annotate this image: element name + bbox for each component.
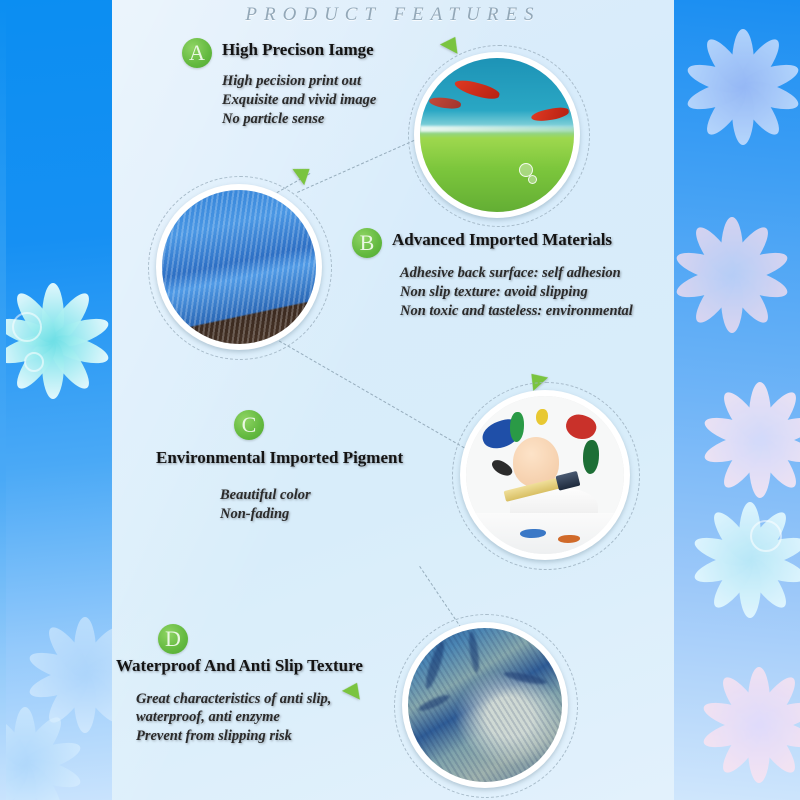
center-panel: PRODUCT FEATURES A High Precison Iamge H… [112, 0, 674, 800]
feature-image-b [156, 184, 322, 350]
feature-line-a-3: No particle sense [222, 110, 324, 129]
feature-line-b-2: Non slip texture: avoid slipping [400, 283, 588, 302]
feature-image-d [402, 622, 568, 788]
product-features-poster: PRODUCT FEATURES A High Precison Iamge H… [0, 0, 800, 800]
feature-line-d-2: waterproof, anti enzyme [136, 708, 280, 727]
right-decorative-band [674, 0, 800, 800]
pink-petal-flower-icon [674, 12, 800, 162]
feature-badge-c: C [234, 410, 264, 440]
swirl-decor-icon [24, 352, 44, 372]
pale-petal-flower-icon [0, 700, 90, 800]
feature-line-d-3: Prevent from slipping risk [136, 727, 292, 746]
feature-line-d-1: Great characteristics of anti slip, [136, 690, 331, 709]
blue-ribbed-fabric-photo [162, 190, 316, 344]
feature-badge-a: A [182, 38, 212, 68]
left-decorative-band [0, 0, 112, 800]
feature-heading-c: Environmental Imported Pigment [156, 448, 403, 468]
swirl-decor-icon [750, 520, 782, 552]
feature-heading-a: High Precison Iamge [222, 40, 374, 60]
pink-petal-flower-icon [674, 215, 792, 335]
feature-badge-b: B [352, 228, 382, 258]
green-triangle-arrow-icon [440, 32, 464, 54]
teal-petal-flower-icon [690, 500, 800, 620]
feature-line-c-1: Beautiful color [220, 486, 311, 505]
pink-petal-flower-icon [684, 650, 800, 800]
baby-with-paintbrush-photo [466, 396, 624, 554]
pink-petal-flower-icon [690, 370, 800, 510]
feature-line-a-2: Exquisite and vivid image [222, 91, 376, 110]
feature-badge-d: D [158, 624, 188, 654]
feature-image-a [414, 52, 580, 218]
feature-line-b-1: Adhesive back surface: self adhesion [400, 264, 621, 283]
feature-line-c-2: Non-fading [220, 505, 289, 524]
green-triangle-arrow-icon [342, 678, 366, 699]
feature-line-b-3: Non toxic and tasteless: environmental [400, 302, 633, 321]
swirl-decor-icon [12, 312, 42, 342]
feature-image-c [460, 390, 630, 560]
blue-marbled-waterdrop-photo [408, 628, 562, 782]
feature-heading-b: Advanced Imported Materials [392, 230, 612, 250]
feature-heading-d: Waterproof And Anti Slip Texture [116, 656, 363, 676]
teal-petal-flower-icon [0, 282, 112, 400]
feature-line-a-1: High pecision print out [222, 72, 361, 91]
koi-fish-lotus-leaf-photo [420, 58, 574, 212]
page-title: PRODUCT FEATURES [112, 4, 674, 26]
